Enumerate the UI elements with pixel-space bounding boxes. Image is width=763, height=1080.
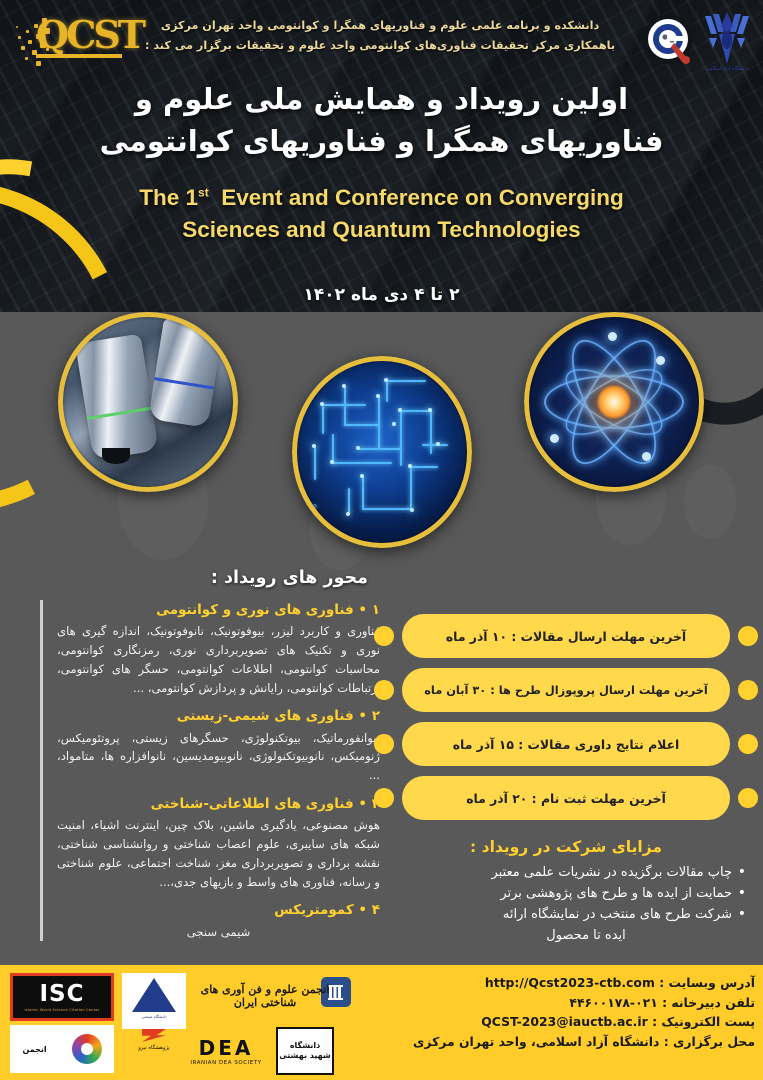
- topic-body-4: شیمی سنجی: [57, 923, 380, 942]
- deadline-row: آخرین مهلت ارسال مقالات : ۱۰ آذر ماه: [372, 614, 760, 659]
- lightning-icon: [142, 1029, 166, 1042]
- isc-logo: ISC Islamic World Science Citation Cente…: [10, 973, 114, 1021]
- isc-subtitle: Islamic World Science Citation Center: [25, 1008, 100, 1012]
- azad-university-logo: دانشگاه آزاد اسلامی: [699, 8, 755, 82]
- topic-title-1: • فناوری های نوری و کوانتومی: [156, 602, 367, 618]
- footer-website-value[interactable]: http://Qcst2023-ctb.com: [485, 973, 655, 993]
- deadline-pill-1: آخرین مهلت ارسال مقالات : ۱۰ آذر ماه: [402, 614, 730, 658]
- deadline-row: آخرین مهلت ارسال پروپوزال طرح ها : ۳۰ آب…: [372, 668, 760, 713]
- topic-heading-3: ۳ • فناوری های اطلاعاتی-شناختی: [57, 794, 380, 814]
- title-en-line2: Sciences and Quantum Technologies: [0, 214, 763, 246]
- niroo-caption: پژوهشگاه نیرو: [138, 1045, 169, 1051]
- poster-title-english: The 1st Event and Conference on Convergi…: [0, 182, 763, 246]
- circuit-brain-image: 0110010010011001: [292, 356, 472, 548]
- quantum-q-logo: [641, 12, 697, 68]
- topic-heading-4: ۴ • کمومتریکس: [57, 900, 380, 920]
- bullet-dot-icon: [738, 626, 758, 646]
- footer-phone-value: ۰۲۱-۴۴۶۰۰۱۷۸: [569, 995, 657, 1010]
- footer-venue-label: محل برگزاری :: [664, 1034, 755, 1049]
- footer-sponsor-logos: ISC Islamic World Science Citation Cente…: [4, 969, 340, 1077]
- gold-ring: [524, 312, 704, 492]
- benefits-section: مزایای شرکت در رویداد : چاپ مقالات برگزی…: [372, 838, 760, 946]
- deadline-row: اعلام نتایج داوری مقالات : ۱۵ آذر ماه: [372, 722, 760, 767]
- secondary-sponsor-logo: انجمن: [10, 1025, 114, 1073]
- deadline-pill-2: آخرین مهلت ارسال پروپوزال طرح ها : ۳۰ آب…: [402, 668, 730, 712]
- conference-poster: QCST دانشکده و برنامه علمی علوم و فناوری…: [0, 0, 763, 1080]
- topics-list: ۱ • فناوری های نوری و کوانتومی فناوری و …: [40, 600, 380, 941]
- isc-name: ISC: [39, 983, 84, 1006]
- gold-ring: [292, 356, 472, 548]
- footer-contact-info: آدرس وبسایت : http://Qcst2023-ctb.com تل…: [357, 973, 755, 1051]
- benefits-continuation: ایده تا محصول: [372, 925, 760, 946]
- triangle-caption: دانشگاه صنعتی: [141, 1014, 166, 1019]
- topic-body-2: بیوانفورماتیک، بیوتکنولوژی، حسگرهای زیست…: [57, 729, 380, 785]
- title-en-rest1: Event and Conference on Converging: [221, 185, 624, 210]
- bullet-dot-icon: [374, 788, 394, 808]
- bullet-dot-icon: [738, 734, 758, 754]
- footer-email-label: پست الکترونیک :: [652, 1014, 755, 1029]
- header-subtitle: دانشکده و برنامه علمی علوم و فناوریهای ه…: [125, 16, 635, 55]
- cognitive-association-name: انجمن علوم و فن آوری های شناختی ایران: [190, 983, 340, 1019]
- deadline-pill-3: اعلام نتایج داوری مقالات : ۱۵ آذر ماه: [402, 722, 730, 766]
- header-subtitle-line1: دانشکده و برنامه علمی علوم و فناوریهای ه…: [125, 16, 635, 36]
- topic-body-1: فناوری و کاربرد لیزر، بیوفوتونیک، نانوفو…: [57, 622, 380, 697]
- footer-email-value[interactable]: QCST-2023@iauctb.ac.ir: [481, 1012, 647, 1032]
- topic-title-4: • کمومتریکس: [274, 902, 367, 918]
- footer-phone-label: تلفن دبیرخانه :: [662, 995, 755, 1010]
- footer-venue-row: محل برگزاری : دانشگاه آزاد اسلامی، واحد …: [357, 1032, 755, 1052]
- footer-website-row: آدرس وبسایت : http://Qcst2023-ctb.com: [357, 973, 755, 993]
- azad-wings-icon: [699, 8, 755, 66]
- benefit-item-3: شرکت طرح های منتخب در نمایشگاه ارائه: [372, 904, 746, 925]
- spiral-icon: [72, 1034, 102, 1064]
- benefit-item-1: چاپ مقالات برگزیده در نشریات علمی معتبر: [372, 862, 746, 883]
- dea-subtitle: IRANIAN DEA SOCIETY: [190, 1060, 261, 1066]
- deadline-pill-4: آخرین مهلت ثبت نام : ۲۰ آذر ماه: [402, 776, 730, 820]
- topic-body-3: هوش مصنوعی، یادگیری ماشین، بلاک چین، این…: [57, 816, 380, 891]
- sponsor-signature: انجمن: [23, 1045, 47, 1054]
- benefits-list: چاپ مقالات برگزیده در نشریات علمی معتبر …: [372, 862, 760, 925]
- event-date: ۲ تا ۴ دی ماه ۱۴۰۲: [0, 285, 763, 305]
- triangle-icon: [132, 978, 176, 1012]
- bullet-dot-icon: [374, 734, 394, 754]
- quantum-q-icon: [641, 12, 697, 68]
- azad-caption: دانشگاه آزاد اسلامی: [699, 66, 755, 72]
- bullet-dot-icon: [374, 626, 394, 646]
- bullet-dot-icon: [738, 680, 758, 700]
- topic-title-2: • فناوری های شیمی-زیستی: [177, 708, 367, 724]
- header-subtitle-line2: باهمکاری مرکز تحقیقات فناوری‌های کوانتوم…: [125, 36, 635, 56]
- microscope-image: [58, 312, 238, 492]
- title-en-line1: The 1st Event and Conference on Convergi…: [0, 182, 763, 214]
- qcst-underline: [36, 54, 122, 58]
- title-fa-line1: اولین رویداد و همایش ملی علوم و: [0, 78, 763, 120]
- niroo-research-logo: پژوهشگاه نیرو: [132, 1029, 176, 1073]
- topic-title-3: • فناوری های اطلاعاتی-شناختی: [151, 796, 367, 812]
- university-triangle-logo: دانشگاه صنعتی: [122, 973, 186, 1029]
- dea-society-logo: DEA IRANIAN DEA SOCIETY: [180, 1031, 272, 1073]
- poster-footer: آدرس وبسایت : http://Qcst2023-ctb.com تل…: [0, 965, 763, 1080]
- topics-section-title: محور های رویداد :: [88, 568, 368, 588]
- poster-title-persian: اولین رویداد و همایش ملی علوم و فناوریها…: [0, 78, 763, 162]
- topic-heading-1: ۱ • فناوری های نوری و کوانتومی: [57, 600, 380, 620]
- deadline-row: آخرین مهلت ثبت نام : ۲۰ آذر ماه: [372, 776, 760, 821]
- footer-phone-row: تلفن دبیرخانه : ۰۲۱-۴۴۶۰۰۱۷۸: [357, 993, 755, 1013]
- atom-image: [524, 312, 704, 492]
- shahid-beheshti-logo: دانشگاه شهید بهشتی: [276, 1027, 334, 1075]
- bullet-dot-icon: [374, 680, 394, 700]
- footer-email-row: پست الکترونیک : QCST-2023@iauctb.ac.ir: [357, 1012, 755, 1032]
- footer-venue-value: دانشگاه آزاد اسلامی، واحد تهران مرکزی: [413, 1034, 659, 1049]
- title-en-ordinal: st: [198, 186, 209, 200]
- benefits-title: مزایای شرکت در رویداد :: [372, 838, 760, 856]
- title-en-prefix: The 1: [139, 185, 198, 210]
- benefit-item-2: حمایت از ایده ها و طرح های پژوهشی برتر: [372, 883, 746, 904]
- dea-name: DEA: [199, 1038, 254, 1058]
- gold-ring: [58, 312, 238, 492]
- qcst-logo: QCST: [10, 6, 140, 72]
- title-fa-line2: فناوریهای همگرا و فناوریهای کوانتومی: [0, 120, 763, 162]
- deadlines-list: آخرین مهلت ارسال مقالات : ۱۰ آذر ماه آخر…: [372, 614, 760, 830]
- bullet-dot-icon: [738, 788, 758, 808]
- footer-website-label: آدرس وبسایت :: [659, 975, 755, 990]
- topic-heading-2: ۲ • فناوری های شیمی-زیستی: [57, 706, 380, 726]
